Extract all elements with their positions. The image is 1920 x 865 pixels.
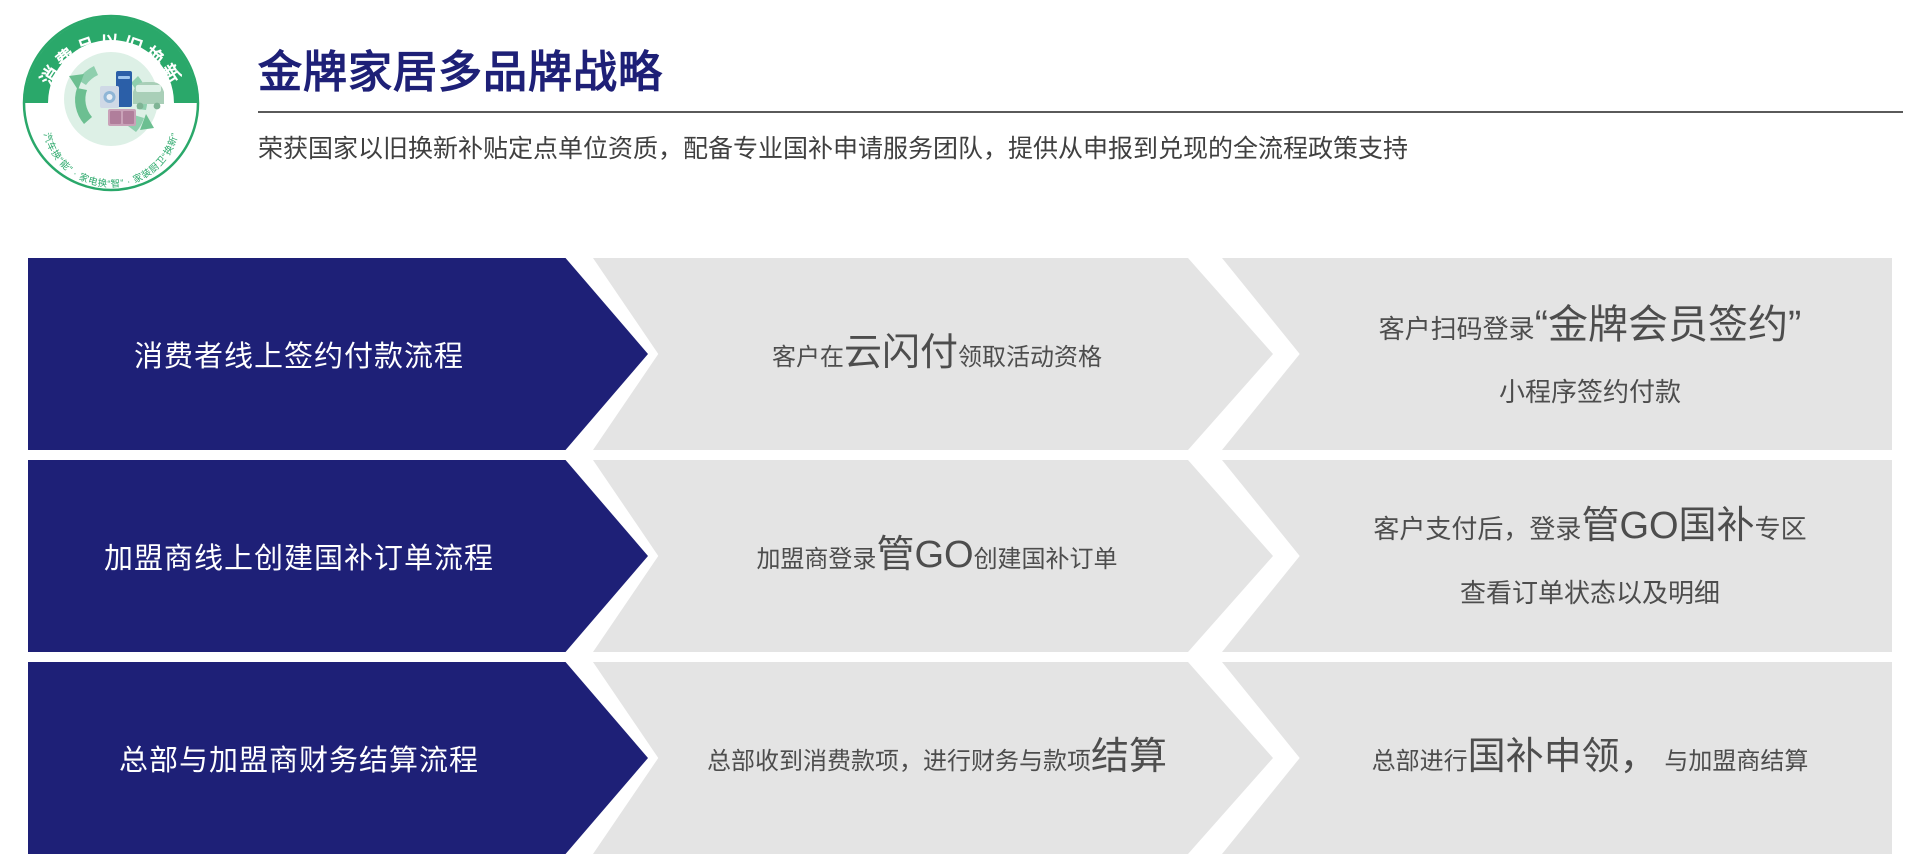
flow-row: 消费者线上签约付款流程客户在云闪付领取活动资格客户扫码登录“金牌会员签约”小程序… <box>0 258 1920 450</box>
flow-step-2-row-2[interactable]: 加盟商登录管GO创建国补订单 <box>593 460 1273 652</box>
flow-step-text-segment: 查看订单状态以及明细 <box>1460 578 1720 608</box>
page-subtitle: 荣获国家以旧换新补贴定点单位资质，配备专业国补申请服务团队，提供从申报到兑现的全… <box>258 133 1898 167</box>
flow-step-line: 查看订单状态以及明细 <box>1460 577 1720 610</box>
flow-stage-label-3[interactable]: 总部与加盟商财务结算流程 <box>28 662 648 854</box>
flow-step-text-segment: 领取活动资格 <box>958 344 1102 371</box>
flow-step-text-segment: 客户支付后，登录 <box>1373 514 1581 544</box>
page-header: 消费品以旧换新 汽车换“能” · 家电换“智” · 家装厨卫“换新” <box>0 0 1920 248</box>
flow-step-3-row-2[interactable]: 客户支付后，登录管GO国补专区查看订单状态以及明细 <box>1222 460 1892 652</box>
flow-step-text-segment: 总部进行 <box>1372 748 1468 775</box>
title-divider <box>258 111 1903 113</box>
flow-row: 总部与加盟商财务结算流程总部收到消费款项，进行财务与款项结算总部进行国补申领， … <box>0 662 1920 854</box>
stage-label-text: 消费者线上签约付款流程 <box>134 333 464 375</box>
flow-step-text-segment: 管GO国补 <box>1581 505 1754 547</box>
header-text-block: 金牌家居多品牌战略 荣获国家以旧换新补贴定点单位资质，配备专业国补申请服务团队，… <box>258 48 1898 167</box>
flow-step-text-segment: 与加盟商结算 <box>1658 748 1809 775</box>
flow-step-text-segment: 创建国补订单 <box>974 546 1118 573</box>
flow-step-text-segment: 专区 <box>1755 514 1807 544</box>
flow-step-line: 客户支付后，登录管GO国补专区 <box>1373 503 1806 551</box>
flow-step-text-segment: 加盟商登录 <box>756 546 876 573</box>
flow-step-2-row-1[interactable]: 客户在云闪付领取活动资格 <box>593 258 1273 450</box>
flow-step-line: 加盟商登录管GO创建国补订单 <box>756 532 1117 580</box>
flow-stage-label-2[interactable]: 加盟商线上创建国补订单流程 <box>28 460 648 652</box>
stage-label-text: 加盟商线上创建国补订单流程 <box>104 535 494 577</box>
flow-step-line: 总部进行国补申领， 与加盟商结算 <box>1372 734 1809 782</box>
flow-step-text-segment: 国补申领， <box>1468 736 1658 778</box>
flow-step-3-row-1[interactable]: 客户扫码登录“金牌会员签约”小程序签约付款 <box>1222 258 1892 450</box>
flow-step-line: 客户在云闪付领取活动资格 <box>772 330 1102 378</box>
flow-row: 加盟商线上创建国补订单流程加盟商登录管GO创建国补订单客户支付后，登录管GO国补… <box>0 460 1920 652</box>
flow-step-text-segment: 总部收到消费款项，进行财务与款项 <box>707 748 1091 775</box>
flow-step-text-segment: 小程序签约付款 <box>1499 377 1681 407</box>
flow-step-text-segment: 云闪付 <box>844 332 958 374</box>
flow-stage-label-1[interactable]: 消费者线上签约付款流程 <box>28 258 648 450</box>
flow-step-line: 客户扫码登录“金牌会员签约” <box>1379 300 1802 350</box>
consumer-goods-trade-in-badge-icon: 消费品以旧换新 汽车换“能” · 家电换“智” · 家装厨卫“换新” <box>22 14 200 192</box>
flow-step-line: 小程序签约付款 <box>1499 376 1681 409</box>
flow-step-text-segment: 客户在 <box>772 344 844 371</box>
flow-step-line: 总部收到消费款项，进行财务与款项结算 <box>707 734 1167 782</box>
flow-step-text-segment: “金牌会员签约” <box>1535 303 1802 347</box>
stage-label-text: 总部与加盟商财务结算流程 <box>119 737 479 779</box>
flow-step-3-row-3[interactable]: 总部进行国补申领， 与加盟商结算 <box>1222 662 1892 854</box>
flow-step-text-segment: 管GO <box>876 534 973 576</box>
process-flow-diagram: 消费者线上签约付款流程客户在云闪付领取活动资格客户扫码登录“金牌会员签约”小程序… <box>0 258 1920 854</box>
flow-step-2-row-3[interactable]: 总部收到消费款项，进行财务与款项结算 <box>593 662 1273 854</box>
badge-svg: 消费品以旧换新 汽车换“能” · 家电换“智” · 家装厨卫“换新” <box>22 14 200 192</box>
flow-step-text-segment: 结算 <box>1091 736 1167 778</box>
flow-step-text-segment: 客户扫码登录 <box>1379 314 1535 344</box>
page-title: 金牌家居多品牌战略 <box>258 48 1898 97</box>
